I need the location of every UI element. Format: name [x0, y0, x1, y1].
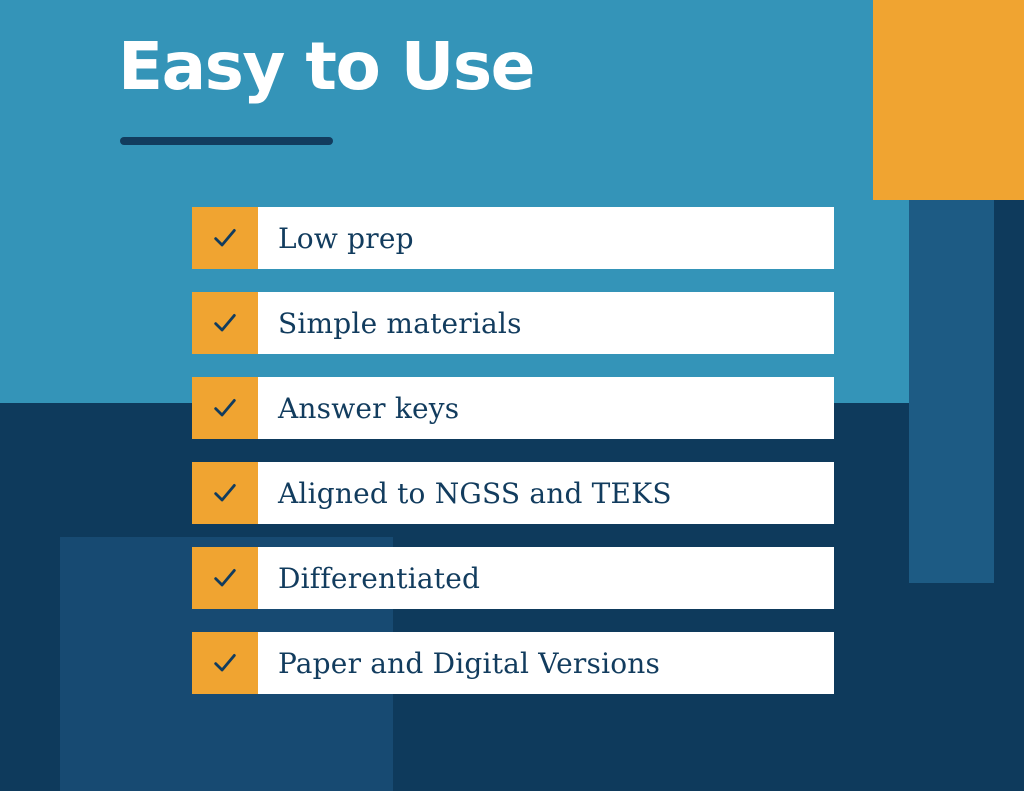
- list-item-label: Paper and Digital Versions: [258, 632, 834, 694]
- checkmark-box: [192, 462, 258, 524]
- list-item: Differentiated: [192, 547, 834, 609]
- header: Easy to Use: [118, 34, 534, 100]
- title-underline: [120, 137, 333, 145]
- background-navy-right-strip: [994, 200, 1024, 403]
- list-item-label: Low prep: [258, 207, 834, 269]
- background-orange-square: [873, 0, 1024, 200]
- list-item-label: Aligned to NGSS and TEKS: [258, 462, 834, 524]
- check-icon: [211, 479, 239, 507]
- checkmark-box: [192, 207, 258, 269]
- checkmark-box: [192, 632, 258, 694]
- check-icon: [211, 649, 239, 677]
- list-item: Answer keys: [192, 377, 834, 439]
- background-mid-blue-column: [909, 200, 994, 583]
- list-item: Aligned to NGSS and TEKS: [192, 462, 834, 524]
- list-item: Paper and Digital Versions: [192, 632, 834, 694]
- page-title: Easy to Use: [118, 34, 534, 100]
- check-icon: [211, 564, 239, 592]
- list-item: Simple materials: [192, 292, 834, 354]
- list-item-label: Simple materials: [258, 292, 834, 354]
- checkmark-box: [192, 377, 258, 439]
- list-item-label: Answer keys: [258, 377, 834, 439]
- list-item-label: Differentiated: [258, 547, 834, 609]
- check-icon: [211, 309, 239, 337]
- feature-list: Low prep Simple materials Answer keys Al…: [192, 207, 834, 694]
- check-icon: [211, 394, 239, 422]
- checkmark-box: [192, 292, 258, 354]
- slide-canvas: Easy to Use Low prep Simple materials An…: [0, 0, 1024, 791]
- list-item: Low prep: [192, 207, 834, 269]
- checkmark-box: [192, 547, 258, 609]
- check-icon: [211, 224, 239, 252]
